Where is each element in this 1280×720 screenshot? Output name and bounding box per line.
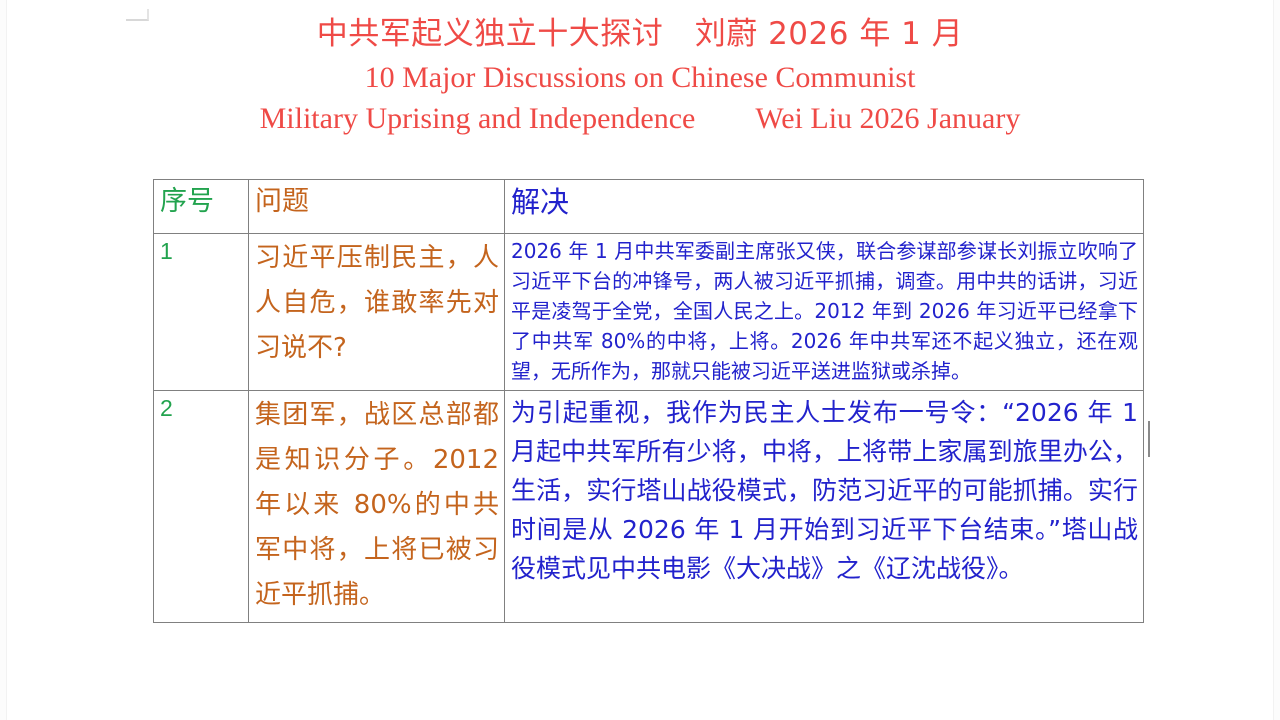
header-cell-no: 序号 [154,180,249,234]
title-chinese: 中共军起义独立十大探讨 刘蔚 2026 年 1 月 [0,12,1280,56]
row-2-problem: 集团军，战区总部都是知识分子。2012 年以来 80%的中共军中将，上将已被习近… [249,391,505,623]
header-cell-solution: 解决 [505,180,1144,234]
discussion-table: 序号 问题 解决 1 习近平压制民主，人人自危，谁敢率先对习说不? 2026 年… [153,179,1144,623]
table-row: 2 集团军，战区总部都是知识分子。2012 年以来 80%的中共军中将，上将已被… [154,391,1144,623]
row-2-number: 2 [154,391,249,623]
row-1-solution: 2026 年 1 月中共军委副主席张又侠，联合参谋部参谋长刘振立吹响了习近平下台… [505,234,1144,391]
table-row: 1 习近平压制民主，人人自危，谁敢率先对习说不? 2026 年 1 月中共军委副… [154,234,1144,391]
title-english-line-1: 10 Major Discussions on Chinese Communis… [0,58,1280,98]
slide-canvas: 中共军起义独立十大探讨 刘蔚 2026 年 1 月 10 Major Discu… [0,0,1280,720]
table-header-row: 序号 问题 解决 [154,180,1144,234]
row-1-problem: 习近平压制民主，人人自危，谁敢率先对习说不? [249,234,505,391]
title-block: 中共军起义独立十大探讨 刘蔚 2026 年 1 月 10 Major Discu… [0,12,1280,139]
title-english-line-2: Military Uprising and Independence Wei L… [0,99,1280,139]
row-1-number: 1 [154,234,249,391]
header-cell-problem: 问题 [249,180,505,234]
row-2-solution: 为引起重视，我作为民主人士发布一号令：“2026 年 1 月起中共军所有少将，中… [505,391,1144,623]
table-row-resize-handle[interactable] [1148,421,1150,457]
